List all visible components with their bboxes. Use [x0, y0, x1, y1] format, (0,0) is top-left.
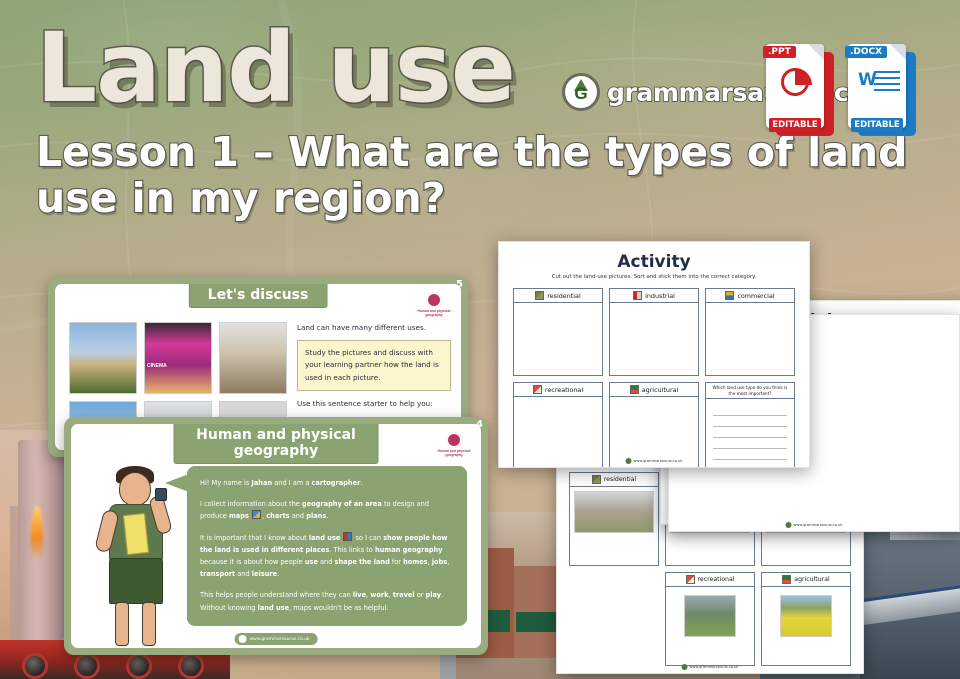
label: industrial	[645, 292, 675, 300]
file-format-badges: .PPT EDITABLE W .DOCX EDITABLE	[766, 44, 916, 136]
worksheet-footer: www.grammarsaurus.co.uk	[625, 458, 682, 464]
worksheet-footer: www.grammarsaurus.co.uk	[681, 664, 738, 670]
residential-icon	[535, 291, 544, 300]
ppt-badge[interactable]: .PPT EDITABLE	[766, 44, 834, 136]
speech-bubble: Hi! My name is Jahan and I am a cartogra…	[187, 466, 467, 626]
activity-title: Activity	[513, 252, 795, 272]
stamp-seal-icon	[446, 432, 462, 448]
worksheet-activity[interactable]: Activity Cut out the land-use pictures. …	[498, 241, 810, 468]
recreational-icon	[533, 385, 542, 394]
docx-editable-label: EDITABLE	[851, 118, 903, 132]
slide-header: Human and physical geography	[174, 424, 379, 464]
land-use-icon	[343, 532, 352, 541]
ws-cell-agricultural[interactable]: agricultural	[609, 382, 699, 468]
bubble-paragraph-3: It is important that I know about land u…	[200, 532, 454, 581]
docx-ext-label: .DOCX	[845, 46, 887, 58]
rapeseed-field-photo	[780, 595, 832, 637]
commercial-icon	[725, 291, 734, 300]
label: commercial	[737, 292, 774, 300]
agricultural-icon	[630, 385, 639, 394]
topic-stamp: Human and physical geography	[437, 432, 471, 458]
ppt-ext-label: .PPT	[763, 46, 796, 58]
slide-human-physical-geography[interactable]: 4 Human and physical geography Human and…	[64, 417, 488, 655]
grammarsaurus-logo-icon	[681, 664, 687, 670]
page-subtitle: Lesson 1 – What are the types of land us…	[36, 130, 916, 222]
topic-stamp: Human and physical geography	[417, 292, 451, 318]
ws-cell-commercial[interactable]: commercial	[705, 288, 795, 376]
stamp-caption: Human and physical geography	[417, 309, 451, 318]
industrial-aerial-photo	[219, 322, 287, 394]
footer-url: www.grammarsaurus.co.uk	[689, 665, 738, 669]
residential-icon	[592, 475, 601, 484]
ws-pictures-cell-agricultural[interactable]: agricultural	[761, 572, 851, 666]
ws-cell-residential[interactable]: residential	[513, 288, 603, 376]
stone-houses-photo	[574, 491, 654, 533]
grammarsaurus-logo-icon	[785, 522, 791, 528]
footer-url: www.grammarsaurus.co.uk	[250, 637, 310, 642]
stamp-seal-icon	[426, 292, 442, 308]
stamp-caption: Human and physical geography	[437, 449, 471, 458]
ppt-editable-label: EDITABLE	[769, 118, 821, 132]
label: agricultural	[642, 386, 679, 394]
label: residential	[547, 292, 581, 300]
industrial-icon	[633, 291, 642, 300]
ws-cell-industrial[interactable]: industrial	[609, 288, 699, 376]
agricultural-icon	[782, 575, 791, 584]
label: recreational	[698, 576, 735, 583]
recreational-icon	[686, 575, 695, 584]
field-road-photo	[69, 322, 137, 394]
label: residential	[604, 476, 636, 483]
bubble-paragraph-1: Hi! My name is Jahan and I am a cartogra…	[200, 477, 454, 489]
pie-chart-icon	[781, 68, 809, 96]
ws-pictures-cell-residential[interactable]: residential	[569, 472, 659, 566]
grammarsaurus-logo-icon	[625, 458, 631, 464]
slide-page-number: 4	[476, 419, 483, 430]
cinema-street-photo	[144, 322, 212, 394]
ws-cell-recreational[interactable]: recreational	[513, 382, 603, 468]
ws-question-box[interactable]: Which land use type do you think is the …	[705, 382, 795, 468]
footer-url: www.grammarsaurus.co.uk	[633, 459, 682, 463]
question-label: Which land use type do you think is the …	[706, 383, 794, 399]
label: recreational	[545, 386, 583, 394]
slide-page-number: 5	[456, 279, 463, 290]
bubble-paragraph-4: This helps people understand where they …	[200, 589, 454, 613]
ws-pictures-cell-recreational[interactable]: recreational	[665, 572, 755, 666]
park-lake-photo	[684, 595, 736, 637]
discussion-sentence-starter: Use this sentence starter to help you:	[297, 398, 451, 409]
jahan-cartographer-illustration	[97, 462, 175, 648]
slide-footer: www.grammarsaurus.co.uk	[235, 633, 318, 645]
footer-url: www.grammarsaurus.co.uk	[793, 523, 842, 527]
bubble-paragraph-2: I collect information about the geograph…	[200, 498, 454, 522]
docx-badge[interactable]: W .DOCX EDITABLE	[848, 44, 916, 136]
discussion-intro: Land can have many different uses.	[297, 322, 451, 333]
grammarsaurus-logo-icon: G	[562, 73, 600, 111]
grammarsaurus-logo-icon	[239, 635, 247, 643]
worksheet-footer: www.grammarsaurus.co.uk	[785, 522, 842, 528]
slide-header: Let's discuss	[189, 284, 328, 308]
activity-instruction: Cut out the land-use pictures. Sort and …	[513, 274, 795, 280]
discussion-task-box: Study the pictures and discuss with your…	[297, 340, 451, 391]
label: agricultural	[794, 576, 829, 583]
map-icon	[252, 510, 261, 519]
